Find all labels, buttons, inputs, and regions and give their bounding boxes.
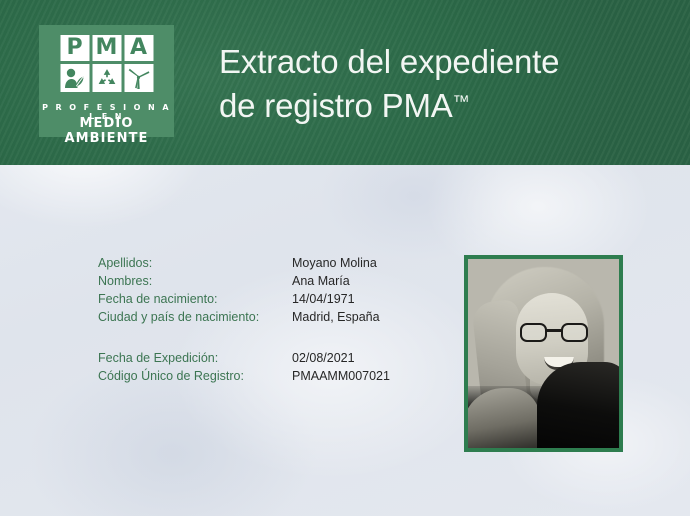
- field-row-fecha-expedicion: Fecha de Expedición: 02/08/2021: [98, 351, 428, 369]
- glasses-lens-right: [561, 323, 588, 342]
- letter-m-glyph: M: [96, 37, 118, 59]
- document-page: P M A: [0, 0, 690, 516]
- field-value-codigo-registro: PMAAMM007021: [292, 369, 390, 383]
- record-details: Apellidos: Moyano Molina Nombres: Ana Ma…: [98, 256, 428, 387]
- field-row-apellidos: Apellidos: Moyano Molina: [98, 256, 428, 274]
- field-label-nombres: Nombres:: [98, 274, 292, 288]
- field-label-apellidos: Apellidos:: [98, 256, 292, 270]
- field-value-fecha-expedicion: 02/08/2021: [292, 351, 355, 365]
- logo-tile-wind-turbine: [124, 64, 153, 92]
- page-title-line1: Extracto del expediente: [219, 40, 669, 84]
- pma-logo: P M A: [39, 25, 174, 137]
- field-label-fecha-nacimiento: Fecha de nacimiento:: [98, 292, 292, 306]
- field-label-fecha-expedicion: Fecha de Expedición:: [98, 351, 292, 365]
- trademark-symbol: ™: [453, 92, 470, 111]
- field-label-ciudad-pais: Ciudad y país de nacimiento:: [98, 310, 292, 324]
- field-row-ciudad-pais: Ciudad y país de nacimiento: Madrid, Esp…: [98, 310, 428, 328]
- field-label-codigo-registro: Código Único de Registro:: [98, 369, 292, 383]
- registrant-portrait: [464, 255, 623, 452]
- portrait-image: [468, 259, 619, 448]
- document-header: P M A: [0, 0, 690, 165]
- logo-icon-grid: P M A: [60, 35, 153, 92]
- portrait-shoulder-right: [537, 362, 623, 448]
- recycle-icon: [95, 67, 118, 89]
- page-title-line2-text: de registro PMA: [219, 87, 453, 124]
- field-value-nombres: Ana María: [292, 274, 350, 288]
- field-value-ciudad-pais: Madrid, España: [292, 310, 380, 324]
- letter-a-glyph: A: [130, 37, 147, 59]
- field-value-apellidos: Moyano Molina: [292, 256, 377, 270]
- logo-tile-letter-m: M: [92, 35, 121, 61]
- logo-tile-letter-a: A: [124, 35, 153, 61]
- glasses-lens-left: [520, 323, 547, 342]
- page-title: Extracto del expediente de registro PMA™: [219, 40, 669, 127]
- logo-tile-recycle: [92, 64, 121, 92]
- glasses-bridge: [546, 329, 562, 332]
- field-row-codigo-registro: Código Único de Registro: PMAAMM007021: [98, 369, 428, 387]
- letter-p-glyph: P: [66, 37, 82, 59]
- field-value-fecha-nacimiento: 14/04/1971: [292, 292, 355, 306]
- page-title-line2: de registro PMA™: [219, 84, 669, 128]
- field-row-nombres: Nombres: Ana María: [98, 274, 428, 292]
- logo-tile-person-leaf: [60, 64, 89, 92]
- logo-tile-letter-p: P: [60, 35, 89, 61]
- field-group-divider: [98, 328, 428, 351]
- person-leaf-icon: [63, 67, 87, 89]
- wind-turbine-icon: [127, 67, 151, 90]
- portrait-glasses: [520, 323, 588, 342]
- logo-subtitle-bottom: MEDIO AMBIENTE: [39, 116, 174, 146]
- field-row-fecha-nacimiento: Fecha de nacimiento: 14/04/1971: [98, 292, 428, 310]
